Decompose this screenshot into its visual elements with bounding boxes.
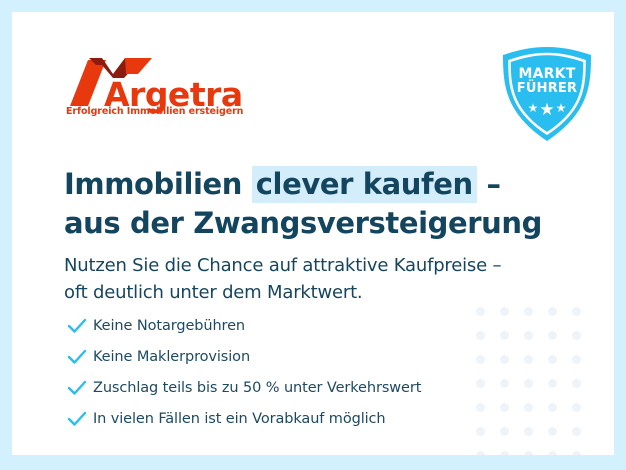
benefits-checklist: Keine Notargebühren Keine Maklerprovisio…: [67, 310, 517, 434]
subheadline-line2: oft deutlich unter dem Marktwert.: [64, 282, 362, 303]
decorative-dot: [548, 403, 557, 412]
list-item-label: Keine Notargebühren: [93, 318, 245, 334]
decorative-dot: [524, 355, 533, 364]
decorative-dot: [572, 403, 581, 412]
decorative-dot: [572, 427, 581, 436]
decorative-dot: [524, 427, 533, 436]
headline-highlight: clever kaufen: [252, 166, 477, 203]
headline-line2: aus der Zwangsversteigerung: [64, 206, 542, 240]
decorative-dot: [524, 451, 533, 455]
headline-part1: Immobilien: [64, 167, 252, 201]
argetra-logo[interactable]: Argetra Erfolgreich Immobilien ersteiger…: [66, 56, 266, 124]
subheadline: Nutzen Sie die Chance auf attraktive Kau…: [64, 252, 564, 307]
decorative-dot: [572, 307, 581, 316]
headline-part2: –: [477, 167, 501, 201]
list-item-label: In vielen Fällen ist ein Vorabkauf mögli…: [93, 411, 386, 427]
banner-card: Argetra Erfolgreich Immobilien ersteiger…: [12, 12, 614, 455]
decorative-dot: [548, 331, 557, 340]
decorative-dot: [524, 331, 533, 340]
check-icon: [67, 411, 93, 427]
decorative-dot: [524, 403, 533, 412]
decorative-dot: [572, 379, 581, 388]
decorative-dot: [548, 379, 557, 388]
decorative-dot: [572, 355, 581, 364]
decorative-dot: [524, 379, 533, 388]
list-item: Keine Notargebühren: [67, 310, 517, 341]
check-icon: [67, 380, 93, 396]
list-item-label: Zuschlag teils bis zu 50 % unter Verkehr…: [93, 380, 421, 396]
logo-tagline: Erfolgreich Immobilien ersteigern: [66, 106, 243, 117]
decorative-dot: [500, 451, 509, 455]
decorative-dot: [548, 451, 557, 455]
check-icon: [67, 318, 93, 334]
list-item: In vielen Fällen ist ein Vorabkauf mögli…: [67, 403, 517, 434]
subheadline-line1: Nutzen Sie die Chance auf attraktive Kau…: [64, 255, 501, 276]
decorative-dot: [548, 355, 557, 364]
check-icon: [67, 349, 93, 365]
headline: Immobilien clever kaufen – aus der Zwang…: [64, 165, 544, 242]
decorative-dot: [476, 451, 485, 455]
decorative-dot: [524, 307, 533, 316]
decorative-dot: [572, 451, 581, 455]
market-leader-badge: MARKT FÜHRER ★ ★ ★: [499, 45, 595, 143]
list-item: Keine Maklerprovision: [67, 341, 517, 372]
decorative-dot: [548, 427, 557, 436]
decorative-dot: [572, 331, 581, 340]
list-item: Zuschlag teils bis zu 50 % unter Verkehr…: [67, 372, 517, 403]
shield-icon: [499, 45, 595, 143]
decorative-dot: [548, 307, 557, 316]
list-item-label: Keine Maklerprovision: [93, 349, 250, 365]
promo-banner: Argetra Erfolgreich Immobilien ersteiger…: [0, 0, 626, 470]
